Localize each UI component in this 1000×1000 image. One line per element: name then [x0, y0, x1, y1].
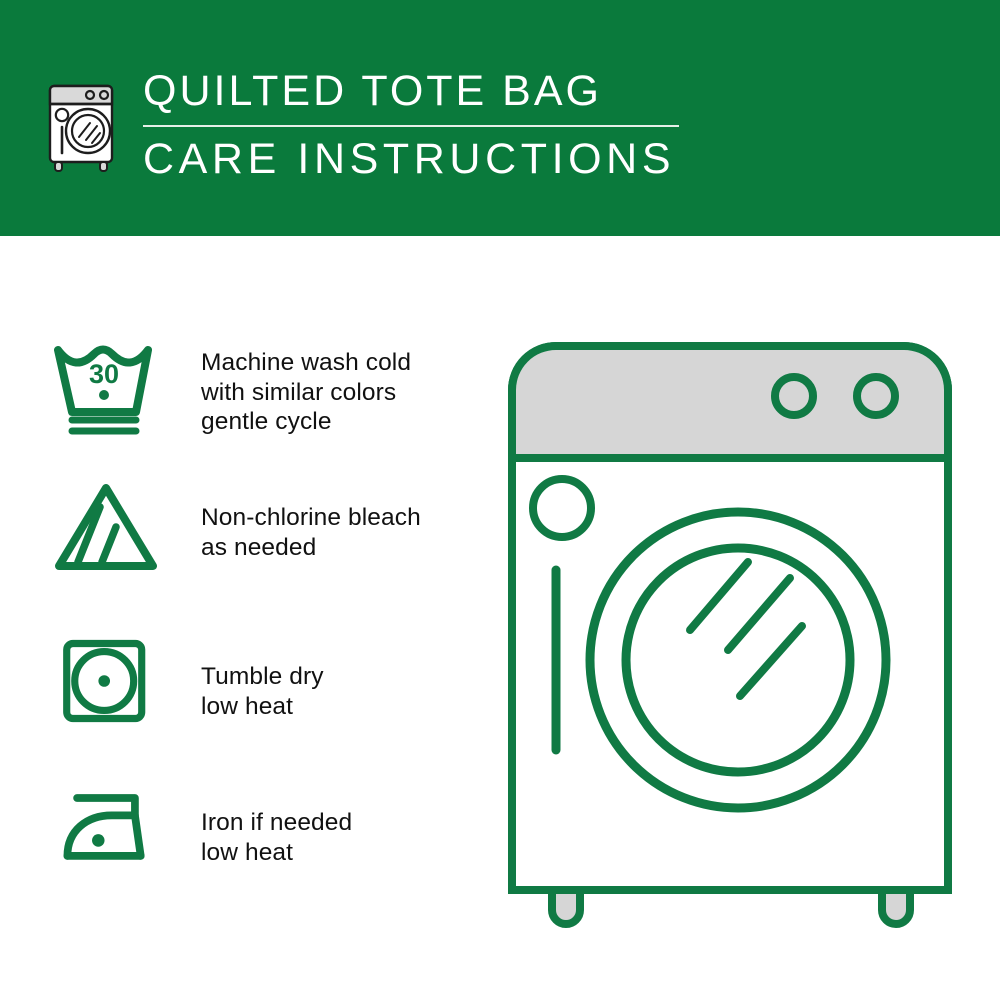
iron-low-heat-icon [48, 786, 163, 864]
care-item-iron: Iron if needed low heat [0, 786, 480, 867]
front-load-washing-machine-illustration [490, 330, 970, 930]
washing-machine-icon [45, 68, 125, 172]
header-title-block: QUILTED TOTE BAG CARE INSTRUCTIONS [143, 66, 703, 184]
care-instructions-poster: QUILTED TOTE BAG CARE INSTRUCTIONS 30 Ma… [0, 0, 1000, 1000]
leg-left [552, 890, 580, 924]
care-item-tumble-dry: Tumble dry low heat [0, 636, 480, 726]
care-item-label: Iron if needed low heat [201, 786, 352, 867]
wash-tub-30-gentle-icon: 30 [48, 336, 163, 436]
tumble-dry-low-heat-icon [48, 636, 163, 726]
leg-right [882, 890, 910, 924]
title-divider [143, 125, 679, 127]
care-item-label: Non-chlorine bleach as needed [201, 481, 421, 562]
page-subtitle: CARE INSTRUCTIONS [143, 134, 703, 184]
care-item-bleach: Non-chlorine bleach as needed [0, 481, 480, 573]
care-item-machine-wash: 30 Machine wash cold with similar colors… [0, 336, 480, 437]
care-instruction-list: 30 Machine wash cold with similar colors… [0, 236, 480, 1000]
care-item-label: Tumble dry low heat [201, 636, 324, 721]
wash-temperature-label: 30 [88, 359, 118, 389]
care-item-label: Machine wash cold with similar colors ge… [201, 336, 411, 437]
non-chlorine-bleach-triangle-icon [48, 481, 163, 573]
header-banner: QUILTED TOTE BAG CARE INSTRUCTIONS [0, 0, 1000, 236]
page-title: QUILTED TOTE BAG [143, 66, 703, 116]
control-panel [512, 346, 948, 458]
